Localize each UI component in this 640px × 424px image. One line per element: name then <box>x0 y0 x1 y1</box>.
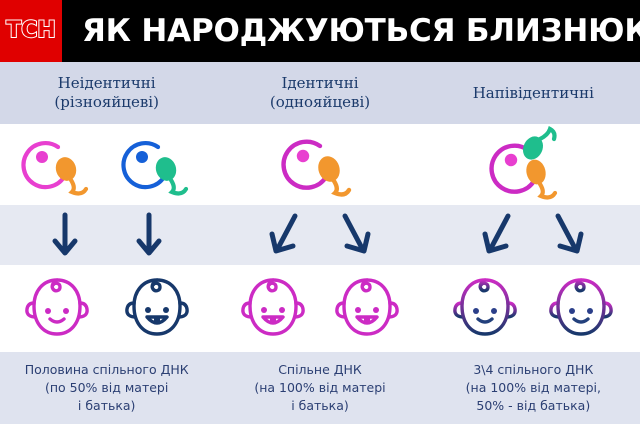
arrows-semi-identical <box>427 205 640 265</box>
egg-two-sperm-icon <box>478 126 588 204</box>
baby-face-icon <box>236 272 310 346</box>
caption-line: (на 100% від матері, <box>466 379 601 397</box>
caption-line: Спільне ДНК <box>254 361 385 379</box>
column-titles-band: Неідентичні (різнояйцеві) Ідентичні (одн… <box>0 62 640 124</box>
tsn-logo: TCH <box>0 0 62 62</box>
babies-semi-identical <box>427 265 640 352</box>
baby-face-icon <box>20 272 94 346</box>
baby-face-icon <box>120 272 194 346</box>
page-title: ЯК НАРОДЖУЮТЬСЯ БЛИЗНЮКИ <box>68 0 640 62</box>
egg-sperm-icon <box>14 132 100 198</box>
egg-sperm-icon <box>274 130 366 200</box>
baby-face-icon <box>448 272 522 346</box>
title-line: Ідентичні <box>270 74 370 93</box>
title-line: Неідентичні <box>54 74 159 93</box>
caption-identical: Спільне ДНК (на 100% від матері і батька… <box>213 352 426 424</box>
arrow-down-icon <box>50 212 80 258</box>
tsn-logo-text: TCH <box>6 20 56 42</box>
column-title-fraternal: Неідентичні (різнояйцеві) <box>0 62 213 124</box>
caption-line: і батька) <box>25 397 189 415</box>
caption-line: (на 100% від матері <box>254 379 385 397</box>
caption-semi-identical: 3\4 спільного ДНК (на 100% від матері, 5… <box>427 352 640 424</box>
babies-fraternal <box>0 265 213 352</box>
gametes-semi-identical <box>427 124 640 205</box>
caption-line: Половина спільного ДНК <box>25 361 189 379</box>
column-title-identical: Ідентичні (однояйцеві) <box>213 62 426 124</box>
babies-band <box>0 265 640 352</box>
caption-line: і батька) <box>254 397 385 415</box>
arrows-band <box>0 205 640 265</box>
caption-line: 3\4 спільного ДНК <box>466 361 601 379</box>
arrow-down-right-icon <box>337 212 373 258</box>
arrow-down-left-icon <box>480 212 516 258</box>
caption-fraternal: Половина спільного ДНК (по 50% від матер… <box>0 352 213 424</box>
title-line: (однояйцеві) <box>270 93 370 112</box>
column-title-semi-identical: Напівідентичні <box>427 62 640 124</box>
arrows-identical <box>213 205 426 265</box>
caption-line: (по 50% від матері <box>25 379 189 397</box>
baby-face-icon <box>544 272 618 346</box>
baby-face-icon <box>330 272 404 346</box>
captions-band: Половина спільного ДНК (по 50% від матер… <box>0 352 640 424</box>
header-bar: TCH ЯК НАРОДЖУЮТЬСЯ БЛИЗНЮКИ <box>0 0 640 62</box>
title-line: Напівідентичні <box>473 84 594 103</box>
egg-sperm-icon <box>114 132 200 198</box>
caption-line: 50% - від батька) <box>466 397 601 415</box>
gametes-identical <box>213 124 426 205</box>
arrow-down-left-icon <box>267 212 303 258</box>
arrows-fraternal <box>0 205 213 265</box>
title-line: (різнояйцеві) <box>54 93 159 112</box>
babies-identical <box>213 265 426 352</box>
gametes-band <box>0 124 640 205</box>
arrow-down-right-icon <box>550 212 586 258</box>
infographic-root: TCH ЯК НАРОДЖУЮТЬСЯ БЛИЗНЮКИ Неідентичні… <box>0 0 640 424</box>
gametes-fraternal <box>0 124 213 205</box>
arrow-down-icon <box>134 212 164 258</box>
